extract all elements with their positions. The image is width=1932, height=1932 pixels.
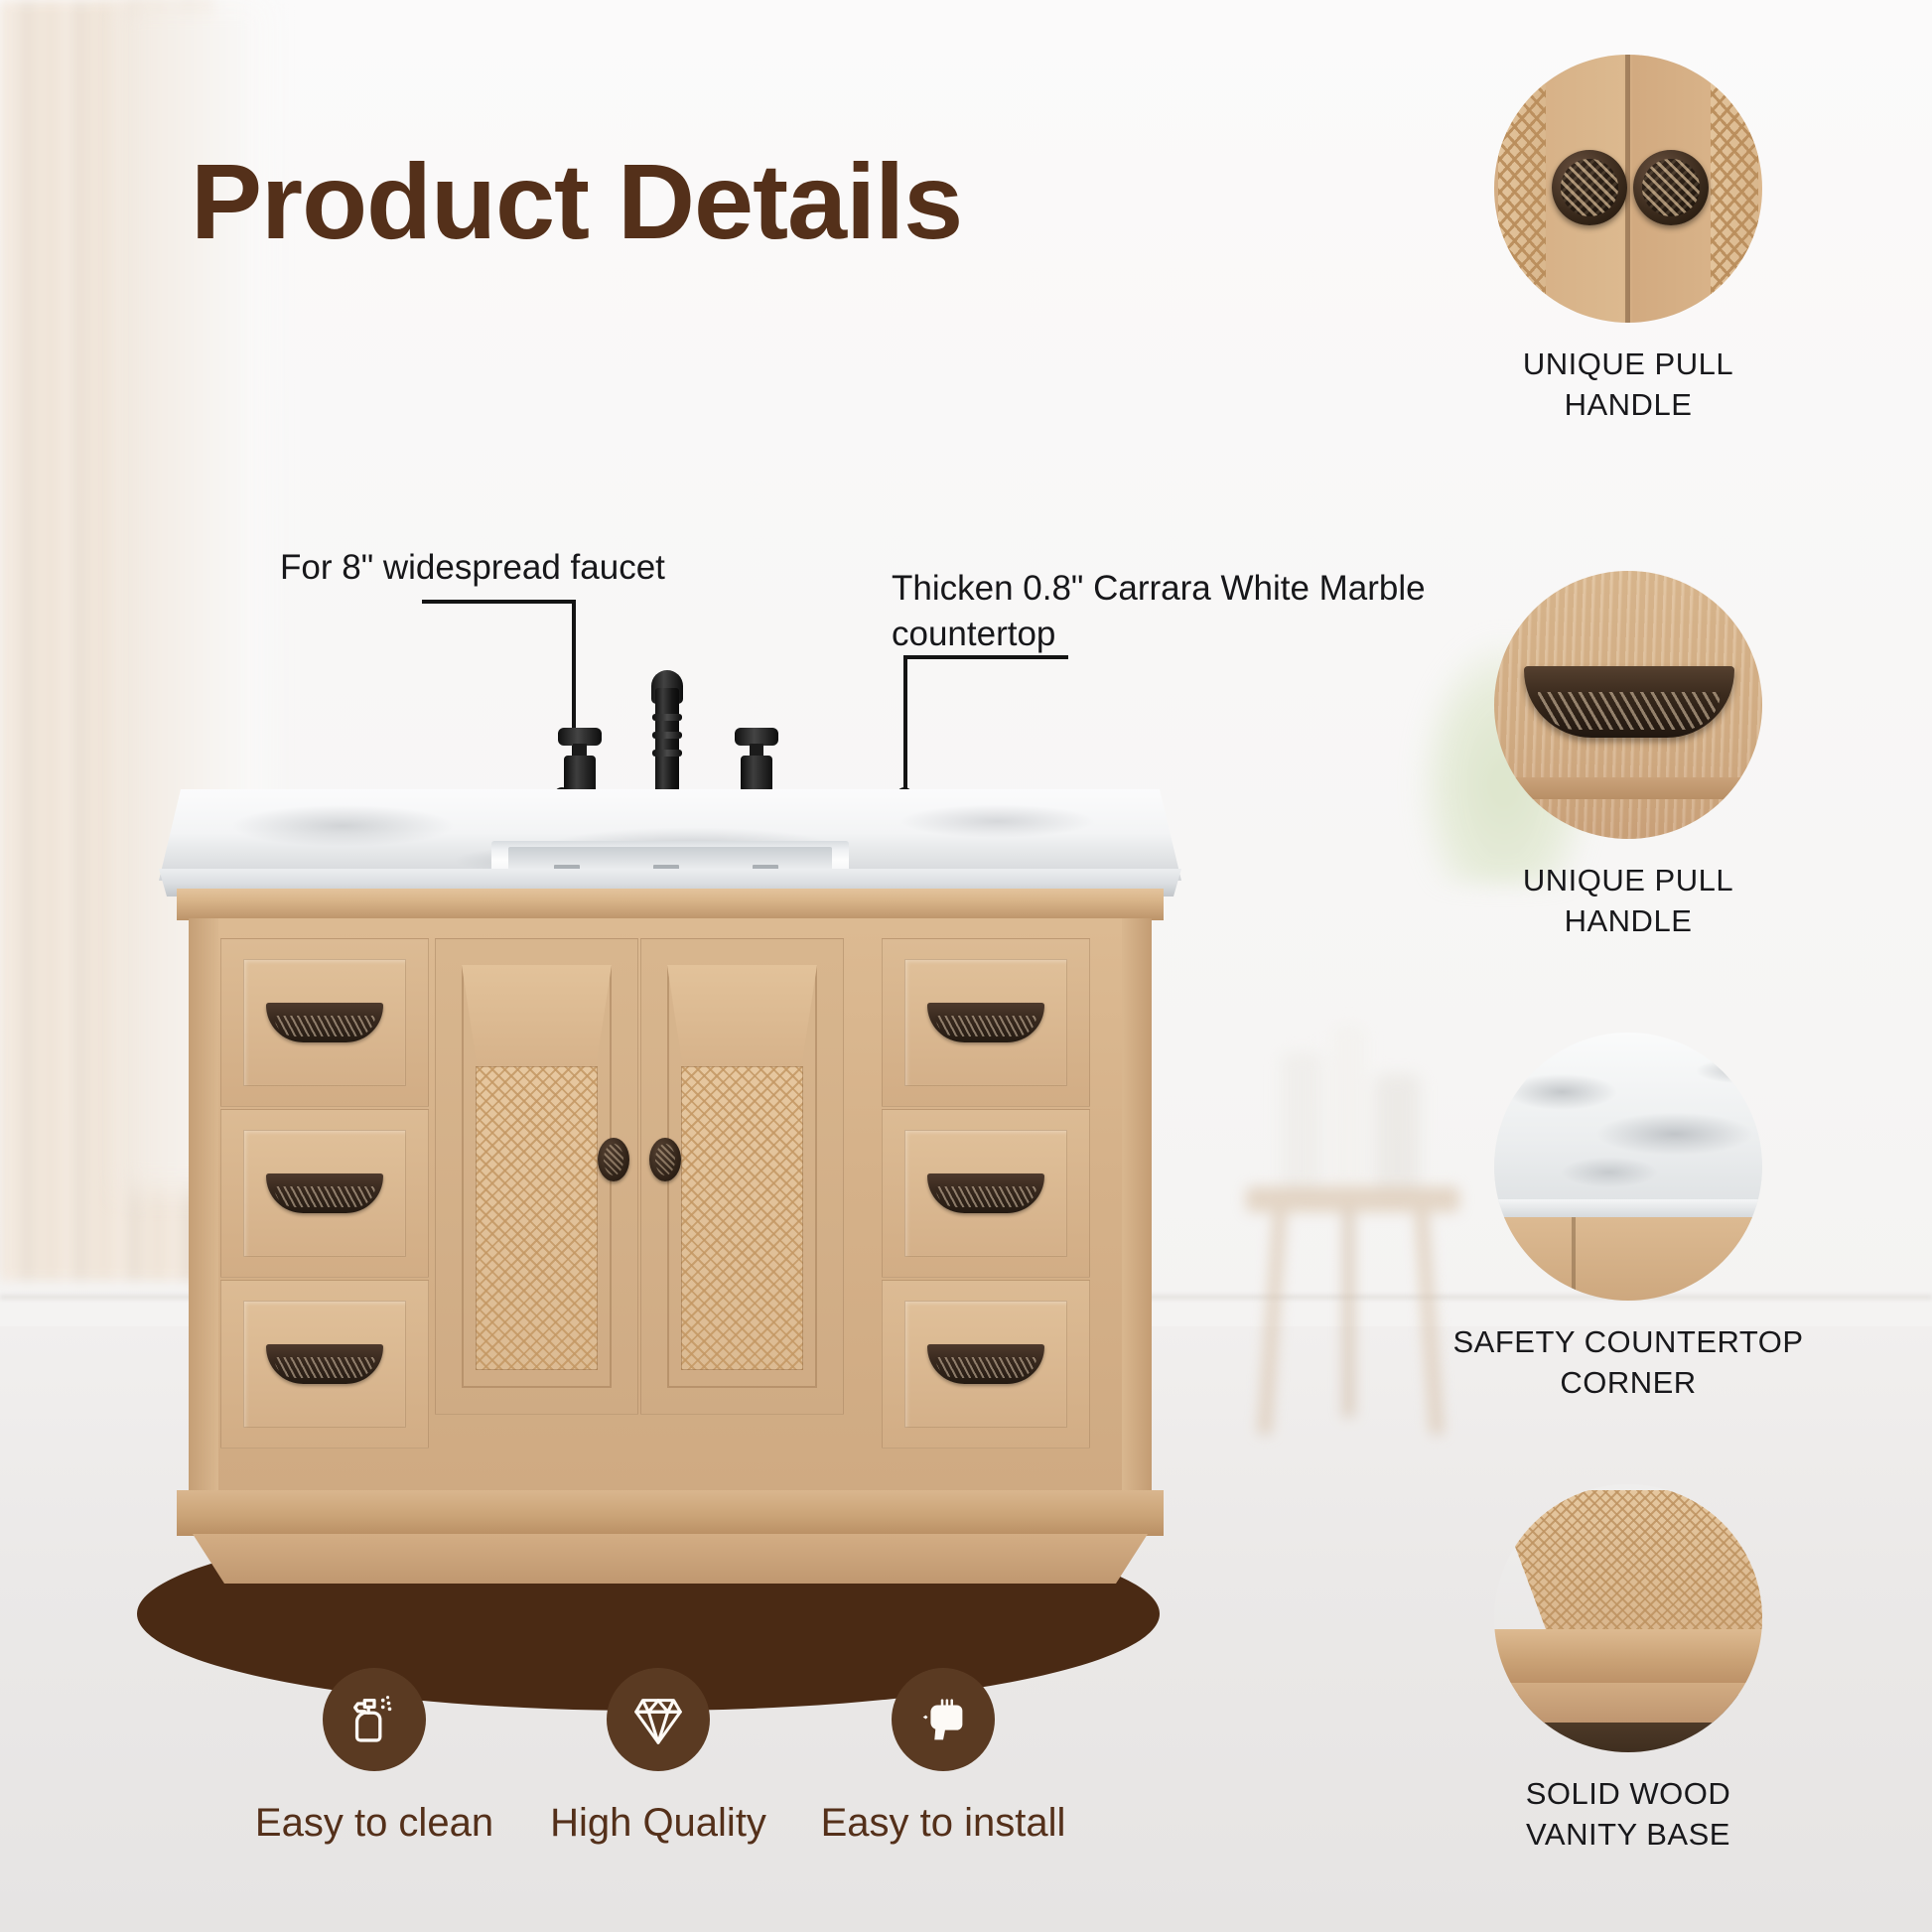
- detail-pull-handle-knob: UNIQUE PULL HANDLE: [1494, 55, 1762, 432]
- detail-image-vanity-base: [1494, 1484, 1762, 1752]
- detail-caption-cup: UNIQUE PULL HANDLE: [1430, 861, 1827, 942]
- detail-caption-line1: UNIQUE PULL: [1430, 861, 1827, 901]
- bottle-3: [1375, 1074, 1420, 1195]
- marble-edge: [1494, 1199, 1762, 1219]
- background-stool: [1246, 1186, 1459, 1435]
- detail-caption-line2: HANDLE: [1430, 901, 1827, 942]
- detail-caption-line1: UNIQUE PULL: [1430, 345, 1827, 385]
- drill-icon: [912, 1689, 974, 1750]
- detail-caption-line2: VANITY BASE: [1430, 1815, 1827, 1856]
- callout-countertop-line2: countertop: [892, 612, 1507, 657]
- cabinet-wood-below: [1494, 1217, 1762, 1301]
- detail-caption-line2: CORNER: [1430, 1363, 1827, 1404]
- page-title: Product Details: [191, 139, 962, 263]
- woven-knob-left-icon: [1552, 150, 1627, 225]
- callout-countertop-leader: [903, 655, 1072, 802]
- cabinet-doors: [189, 938, 1152, 1415]
- detail-caption-corner: SAFETY COUNTERTOP CORNER: [1430, 1322, 1827, 1404]
- cabinet-door-left[interactable]: [435, 938, 638, 1415]
- vanity-product-image: [159, 789, 1181, 1584]
- detail-image-knobs: [1494, 55, 1762, 323]
- marble-surface: [1494, 1033, 1762, 1207]
- faucet-ring-1: [652, 714, 682, 721]
- faucet-ring-2: [652, 732, 682, 739]
- callout-countertop-label: Thicken 0.8" Carrara White Marble counte…: [892, 566, 1507, 657]
- detail-caption-knob: UNIQUE PULL HANDLE: [1430, 345, 1827, 426]
- feature-badge: [892, 1668, 995, 1771]
- door-knob-left-icon[interactable]: [598, 1138, 629, 1181]
- bottle-1: [1281, 1052, 1322, 1196]
- detail-caption-line2: HANDLE: [1430, 385, 1827, 426]
- feature-high-quality: High Quality: [509, 1668, 807, 1846]
- callout-countertop-line1: Thicken 0.8" Carrara White Marble: [892, 566, 1507, 612]
- feature-easy-to-install: Easy to install: [794, 1668, 1092, 1846]
- stool-leg-3: [1343, 1208, 1354, 1417]
- faucet-spout-body: [655, 688, 679, 797]
- detail-image-countertop-corner: [1494, 1033, 1762, 1301]
- cabinet-top-moulding: [177, 889, 1164, 920]
- wood-seam: [1572, 1217, 1576, 1301]
- callout-faucet-label: For 8" widespread faucet: [280, 545, 665, 591]
- cabinet-door-right[interactable]: [640, 938, 844, 1415]
- background-bottles: [1271, 1013, 1430, 1201]
- stool-leg-1: [1258, 1208, 1287, 1435]
- detail-caption-line1: SAFETY COUNTERTOP: [1430, 1322, 1827, 1363]
- woven-knob-right-icon: [1633, 150, 1709, 225]
- rattan-strip-right: [1711, 55, 1758, 323]
- detail-caption-line1: SOLID WOOD: [1430, 1774, 1827, 1815]
- bottle-2: [1332, 1023, 1366, 1196]
- drawer-rail: [1494, 777, 1762, 799]
- detail-countertop-corner: SAFETY COUNTERTOP CORNER: [1494, 1033, 1762, 1410]
- detail-caption-base: SOLID WOOD VANITY BASE: [1430, 1774, 1827, 1856]
- feature-badge: [607, 1668, 710, 1771]
- feature-easy-to-clean: Easy to clean: [225, 1668, 523, 1846]
- detail-vanity-base: SOLID WOOD VANITY BASE: [1494, 1484, 1762, 1862]
- feature-label: Easy to install: [794, 1801, 1092, 1846]
- feature-label: Easy to clean: [225, 1801, 523, 1846]
- door-knob-right-icon[interactable]: [649, 1138, 681, 1181]
- base-moulding: [1494, 1629, 1762, 1683]
- rattan-strip-left: [1498, 55, 1546, 323]
- diamond-icon: [627, 1689, 689, 1750]
- cup-pull-handle-icon: [1524, 666, 1734, 738]
- rattan-cane-panel: [681, 1066, 803, 1370]
- spray-bottle-icon: [344, 1689, 405, 1750]
- feature-label: High Quality: [509, 1801, 807, 1846]
- faucet-ring-3: [652, 750, 682, 757]
- feature-badge: [323, 1668, 426, 1771]
- detail-image-cup-handle: [1494, 571, 1762, 839]
- cabinet-plinth: [193, 1534, 1148, 1584]
- detail-pull-handle-cup: UNIQUE PULL HANDLE: [1494, 571, 1762, 948]
- cabinet-base-moulding: [177, 1490, 1164, 1536]
- rattan-cane-panel: [476, 1066, 598, 1370]
